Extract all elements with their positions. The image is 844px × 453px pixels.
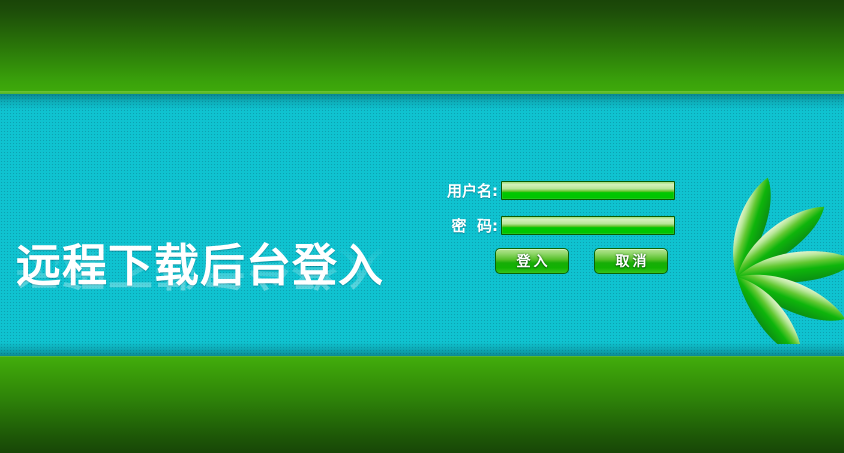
cancel-button[interactable]: 取消 bbox=[594, 248, 668, 274]
form-actions: 登入 取消 bbox=[420, 248, 682, 274]
login-page: 远程下载后台登入 远程下载后台登入 用户名: 密 码: 登入 取消 bbox=[0, 0, 844, 453]
leaf-spray-icon bbox=[716, 158, 844, 344]
page-title-reflection: 远程下载后台登入 bbox=[16, 241, 384, 293]
login-form: 用户名: 密 码: 登入 取消 bbox=[420, 178, 682, 274]
username-input[interactable] bbox=[501, 181, 675, 200]
username-label: 用户名: bbox=[420, 180, 501, 201]
page-title-block: 远程下载后台登入 远程下载后台登入 bbox=[16, 240, 416, 350]
password-row: 密 码: bbox=[420, 213, 682, 237]
username-row: 用户名: bbox=[420, 178, 682, 202]
password-label: 密 码: bbox=[420, 215, 501, 236]
bottom-green-band bbox=[0, 357, 844, 453]
login-button[interactable]: 登入 bbox=[495, 248, 569, 274]
password-input[interactable] bbox=[501, 216, 675, 235]
top-green-band bbox=[0, 0, 844, 93]
